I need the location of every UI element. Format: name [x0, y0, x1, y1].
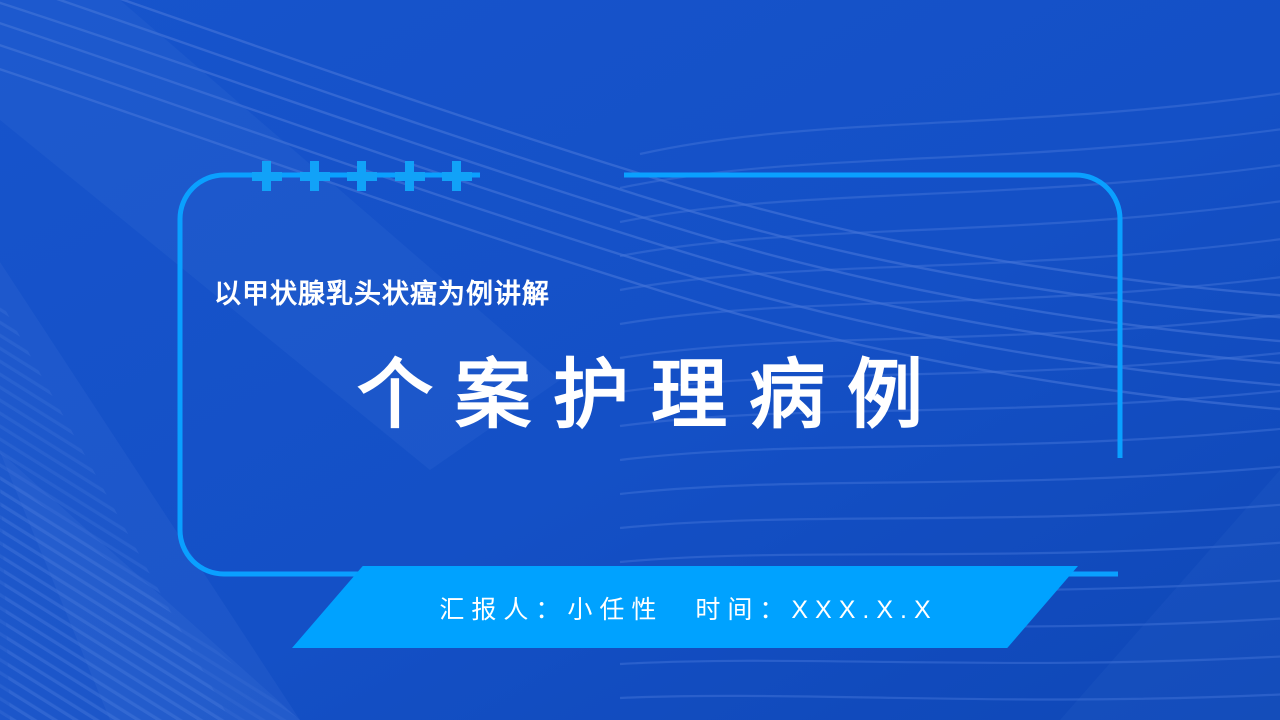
plus-icon: [252, 161, 282, 191]
presentation-slide: 以甲状腺乳头状癌为例讲解 个案护理病例 汇报人：小任性 时间：XXX.X.X: [0, 0, 1280, 720]
plus-icon: [442, 161, 472, 191]
presenter-banner: 汇报人：小任性 时间：XXX.X.X: [292, 566, 1078, 648]
plus-icon: [347, 161, 377, 191]
plus-icon: [395, 161, 425, 191]
slide-subtitle: 以甲状腺乳头状癌为例讲解: [214, 272, 550, 311]
slide-title: 个案护理病例: [0, 356, 1280, 437]
presenter-info-text: 汇报人：小任性 时间：XXX.X.X: [432, 590, 937, 626]
plus-icon: [300, 161, 330, 191]
plus-decoration-row: [252, 160, 472, 192]
